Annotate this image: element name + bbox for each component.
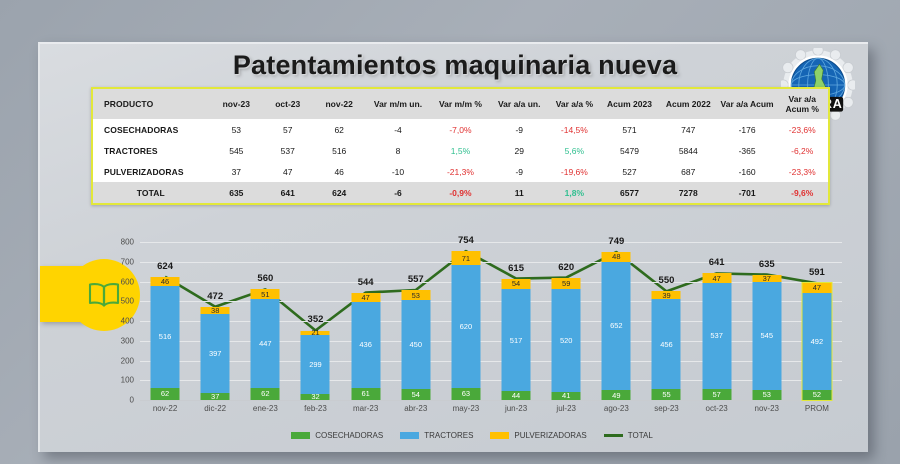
stacked-bar[interactable]: 5952041 xyxy=(552,278,581,400)
table-cell: 5844 xyxy=(659,140,718,161)
bar-segment-cosechadoras[interactable]: 32 xyxy=(301,394,330,400)
table-cell: 624 xyxy=(313,182,364,203)
bar-group[interactable]: 3754553635nov-23 xyxy=(742,242,792,400)
table-cell: -701 xyxy=(718,182,777,203)
table-cell: -21,3% xyxy=(431,161,490,182)
cell-producto: TRACTORES xyxy=(93,140,211,161)
bar-group[interactable]: 2129932352feb-23 xyxy=(290,242,340,400)
table-cell: 641 xyxy=(262,182,313,203)
total-value-label: 615 xyxy=(508,263,524,274)
x-axis-label: ago-23 xyxy=(604,404,629,413)
table-cell: 8 xyxy=(365,140,431,161)
stacked-bar[interactable]: 4753757 xyxy=(702,273,731,400)
stacked-bar-chart: 01002003004005006007008004651662624nov-2… xyxy=(92,232,852,442)
stacked-bar[interactable]: 4749252 xyxy=(802,283,831,400)
bar-segment-cosechadoras[interactable]: 41 xyxy=(552,392,581,400)
x-axis-label: jul-23 xyxy=(556,404,576,413)
x-axis-label: sep-23 xyxy=(654,404,678,413)
col-var-aa-acum: Var a/a Acum xyxy=(718,89,777,119)
legend-swatch xyxy=(490,432,509,439)
bar-segment-tractores[interactable]: 516 xyxy=(151,286,180,388)
bar-group[interactable]: 4651662624nov-22 xyxy=(140,242,190,400)
table-cell: 516 xyxy=(313,140,364,161)
bar-segment-cosechadoras[interactable]: 52 xyxy=(802,390,831,400)
col-var-aa-acum-pct: Var a/a Acum % xyxy=(776,89,828,119)
bar-segment-cosechadoras[interactable]: 44 xyxy=(502,391,531,400)
summary-table: PRODUCTO nov-23 oct-23 nov-22 Var m/m un… xyxy=(91,87,830,205)
bar-segment-pulverizadoras[interactable]: 51 xyxy=(251,289,280,299)
y-axis-tick: 500 xyxy=(121,297,134,306)
bar-segment-tractores[interactable]: 520 xyxy=(552,289,581,392)
bar-segment-pulverizadoras[interactable]: 37 xyxy=(752,275,781,282)
table-row: TOTAL635641624-6-0,9%111,8%65777278-701-… xyxy=(93,182,828,203)
table-cell: 62 xyxy=(313,119,364,140)
stacked-bar[interactable]: 4743661 xyxy=(351,293,380,400)
bar-segment-pulverizadoras[interactable]: 59 xyxy=(552,278,581,290)
total-value-label: 472 xyxy=(207,291,223,302)
stacked-bar[interactable]: 2129932 xyxy=(301,331,330,401)
legend-swatch xyxy=(291,432,310,439)
table-cell: -9 xyxy=(490,119,549,140)
bar-group[interactable]: 4865249749ago-23 xyxy=(591,242,641,400)
table-cell: 57 xyxy=(262,119,313,140)
col-nov23: nov-23 xyxy=(211,89,262,119)
bar-segment-cosechadoras[interactable]: 53 xyxy=(752,390,781,400)
table-cell: 1,8% xyxy=(549,182,600,203)
bar-group[interactable]: 7162063754may-23 xyxy=(441,242,491,400)
bar-segment-tractores[interactable]: 537 xyxy=(702,283,731,389)
bar-group[interactable]: 5345054557abr-23 xyxy=(391,242,441,400)
gridline: 0 xyxy=(140,400,842,401)
stacked-bar[interactable]: 3839737 xyxy=(201,307,230,400)
cell-producto: COSECHADORAS xyxy=(93,119,211,140)
total-value-label: 557 xyxy=(408,274,424,285)
table-cell: 571 xyxy=(600,119,659,140)
y-axis-tick: 300 xyxy=(121,336,134,345)
y-axis-tick: 200 xyxy=(121,356,134,365)
bar-segment-tractores[interactable]: 620 xyxy=(451,265,480,387)
bar-segment-pulverizadoras[interactable]: 46 xyxy=(151,277,180,286)
table-cell: 7278 xyxy=(659,182,718,203)
legend-item[interactable]: TOTAL xyxy=(604,431,653,440)
x-axis-label: ene-23 xyxy=(253,404,278,413)
slide-panel: Patentamientos maquinaria nueva xyxy=(38,42,868,452)
table-cell: 11 xyxy=(490,182,549,203)
table-cell: -10 xyxy=(365,161,431,182)
table-cell: -9,6% xyxy=(776,182,828,203)
table-cell: -0,9% xyxy=(431,182,490,203)
bar-segment-tractores[interactable]: 652 xyxy=(602,262,631,391)
bar-segment-pulverizadoras[interactable]: 38 xyxy=(201,307,230,315)
bar-group[interactable]: 3945655550sep-23 xyxy=(641,242,691,400)
table-cell: 635 xyxy=(211,182,262,203)
table-body: COSECHADORAS535762-4-7,0%-9-14,5%571747-… xyxy=(93,119,828,203)
table-cell: -4 xyxy=(365,119,431,140)
bar-segment-cosechadoras[interactable]: 62 xyxy=(151,388,180,400)
bar-group[interactable]: 5952041620jul-23 xyxy=(541,242,591,400)
x-axis-label: nov-23 xyxy=(755,404,779,413)
bar-segment-tractores[interactable]: 517 xyxy=(502,289,531,391)
bar-group[interactable]: 4749252591PROM xyxy=(792,242,842,400)
bar-segment-cosechadoras[interactable]: 37 xyxy=(201,393,230,400)
bar-segment-pulverizadoras[interactable]: 47 xyxy=(351,293,380,302)
total-value-label: 641 xyxy=(709,257,725,268)
table-cell: 53 xyxy=(211,119,262,140)
bar-segment-cosechadoras[interactable]: 57 xyxy=(702,389,731,400)
stacked-bar[interactable]: 4651662 xyxy=(151,277,180,400)
bar-segment-tractores[interactable]: 436 xyxy=(351,302,380,388)
x-axis-label: jun-23 xyxy=(505,404,527,413)
table-cell: -6 xyxy=(365,182,431,203)
bar-segment-cosechadoras[interactable]: 49 xyxy=(602,390,631,400)
legend-item[interactable]: PULVERIZADORAS xyxy=(490,431,586,440)
y-axis-tick: 700 xyxy=(121,257,134,266)
table-row: TRACTORES54553751681,5%295,6%54795844-36… xyxy=(93,140,828,161)
legend-swatch xyxy=(604,434,623,437)
col-var-mm-un: Var m/m un. xyxy=(365,89,431,119)
bar-segment-tractores[interactable]: 492 xyxy=(802,293,831,390)
x-axis-label: nov-22 xyxy=(153,404,177,413)
legend-swatch xyxy=(400,432,419,439)
bar-segment-pulverizadoras[interactable]: 71 xyxy=(451,251,480,265)
x-axis-label: dic-22 xyxy=(204,404,226,413)
col-producto: PRODUCTO xyxy=(93,89,211,119)
table-cell: 537 xyxy=(262,140,313,161)
chart-legend: COSECHADORASTRACTORESPULVERIZADORASTOTAL xyxy=(92,431,852,440)
x-axis-label: feb-23 xyxy=(304,404,327,413)
y-axis-tick: 0 xyxy=(130,396,134,405)
page-title: Patentamientos maquinaria nueva xyxy=(40,50,870,81)
table-cell: -23,3% xyxy=(776,161,828,182)
legend-item[interactable]: COSECHADORAS xyxy=(291,431,383,440)
stacked-bar[interactable]: 4865249 xyxy=(602,252,631,400)
col-var-aa-un: Var a/a un. xyxy=(490,89,549,119)
x-axis-label: mar-23 xyxy=(353,404,378,413)
bar-segment-pulverizadoras[interactable]: 47 xyxy=(702,273,731,282)
table-cell: -160 xyxy=(718,161,777,182)
bar-segment-cosechadoras[interactable]: 62 xyxy=(251,388,280,400)
col-oct23: oct-23 xyxy=(262,89,313,119)
stacked-bar[interactable]: 3945655 xyxy=(652,291,681,400)
legend-label: TOTAL xyxy=(628,431,653,440)
bar-segment-pulverizadoras[interactable]: 48 xyxy=(602,252,631,261)
legend-label: TRACTORES xyxy=(424,431,473,440)
table-cell: -7,0% xyxy=(431,119,490,140)
patentamientos-table: PRODUCTO nov-23 oct-23 nov-22 Var m/m un… xyxy=(93,89,828,203)
table-cell: 37 xyxy=(211,161,262,182)
stacked-bar[interactable]: 5345054 xyxy=(401,290,430,400)
total-value-label: 352 xyxy=(308,314,324,325)
bar-segment-tractores[interactable]: 545 xyxy=(752,282,781,390)
table-cell: -23,6% xyxy=(776,119,828,140)
total-value-label: 544 xyxy=(358,277,374,288)
table-cell: 5479 xyxy=(600,140,659,161)
stacked-bar[interactable]: 7162063 xyxy=(451,251,480,400)
total-value-label: 620 xyxy=(558,262,574,273)
bar-segment-pulverizadoras[interactable]: 53 xyxy=(401,290,430,300)
bar-group[interactable]: 5144762560ene-23 xyxy=(240,242,290,400)
table-row: PULVERIZADORAS374746-10-21,3%-9-19,6%527… xyxy=(93,161,828,182)
bar-segment-tractores[interactable]: 397 xyxy=(201,314,230,392)
table-cell: 5,6% xyxy=(549,140,600,161)
legend-item[interactable]: TRACTORES xyxy=(400,431,473,440)
table-row: COSECHADORAS535762-4-7,0%-9-14,5%571747-… xyxy=(93,119,828,140)
table-cell: -14,5% xyxy=(549,119,600,140)
stacked-bar[interactable]: 3754553 xyxy=(752,275,781,400)
legend-label: COSECHADORAS xyxy=(315,431,383,440)
col-acum-2023: Acum 2023 xyxy=(600,89,659,119)
table-header-row: PRODUCTO nov-23 oct-23 nov-22 Var m/m un… xyxy=(93,89,828,119)
col-var-mm-pct: Var m/m % xyxy=(431,89,490,119)
table-cell: 46 xyxy=(313,161,364,182)
total-value-label: 624 xyxy=(157,261,173,272)
cell-producto: PULVERIZADORAS xyxy=(93,161,211,182)
table-cell: 1,5% xyxy=(431,140,490,161)
total-value-label: 591 xyxy=(809,267,825,278)
total-value-label: 754 xyxy=(458,235,474,246)
bar-segment-tractores[interactable]: 456 xyxy=(652,299,681,389)
y-axis-tick: 600 xyxy=(121,277,134,286)
table-cell: -6,2% xyxy=(776,140,828,161)
table-cell: -365 xyxy=(718,140,777,161)
bar-segment-pulverizadoras[interactable]: 47 xyxy=(802,283,831,292)
table-cell: -19,6% xyxy=(549,161,600,182)
y-axis-tick: 800 xyxy=(121,238,134,247)
bar-segment-cosechadoras[interactable]: 55 xyxy=(652,389,681,400)
table-cell: 527 xyxy=(600,161,659,182)
table-cell: 6577 xyxy=(600,182,659,203)
y-axis-tick: 400 xyxy=(121,317,134,326)
legend-label: PULVERIZADORAS xyxy=(514,431,586,440)
bar-group[interactable]: 5451744615jun-23 xyxy=(491,242,541,400)
bar-segment-cosechadoras[interactable]: 54 xyxy=(401,389,430,400)
table-cell: 47 xyxy=(262,161,313,182)
stacked-bar[interactable]: 5144762 xyxy=(251,289,280,400)
cell-producto: TOTAL xyxy=(93,182,211,203)
x-axis-label: PROM xyxy=(805,404,829,413)
table-cell: 687 xyxy=(659,161,718,182)
total-value-label: 550 xyxy=(659,275,675,286)
x-axis-label: oct-23 xyxy=(706,404,728,413)
bar-segment-pulverizadoras[interactable]: 39 xyxy=(652,291,681,299)
total-value-label: 749 xyxy=(608,236,624,247)
bar-group[interactable]: 3839737472dic-22 xyxy=(190,242,240,400)
x-axis-label: abr-23 xyxy=(404,404,427,413)
bar-segment-tractores[interactable]: 299 xyxy=(301,335,330,394)
x-axis-label: may-23 xyxy=(453,404,480,413)
bar-group[interactable]: 4743661544mar-23 xyxy=(341,242,391,400)
table-cell: -176 xyxy=(718,119,777,140)
total-value-label: 560 xyxy=(257,273,273,284)
table-cell: 747 xyxy=(659,119,718,140)
table-cell: -9 xyxy=(490,161,549,182)
table-header: PRODUCTO nov-23 oct-23 nov-22 Var m/m un… xyxy=(93,89,828,119)
y-axis-tick: 100 xyxy=(121,376,134,385)
table-cell: 545 xyxy=(211,140,262,161)
bar-segment-cosechadoras[interactable]: 63 xyxy=(451,388,480,400)
bar-segment-cosechadoras[interactable]: 61 xyxy=(351,388,380,400)
stacked-bar[interactable]: 5451744 xyxy=(502,279,531,400)
total-value-label: 635 xyxy=(759,259,775,270)
bar-segment-tractores[interactable]: 447 xyxy=(251,299,280,387)
plot-area: 01002003004005006007008004651662624nov-2… xyxy=(140,242,842,400)
bar-segment-tractores[interactable]: 450 xyxy=(401,300,430,389)
bar-segment-pulverizadoras[interactable]: 54 xyxy=(502,279,531,290)
col-acum-2022: Acum 2022 xyxy=(659,89,718,119)
col-nov22: nov-22 xyxy=(313,89,364,119)
col-var-aa-pct: Var a/a % xyxy=(549,89,600,119)
bar-group[interactable]: 4753757641oct-23 xyxy=(692,242,742,400)
table-cell: 29 xyxy=(490,140,549,161)
